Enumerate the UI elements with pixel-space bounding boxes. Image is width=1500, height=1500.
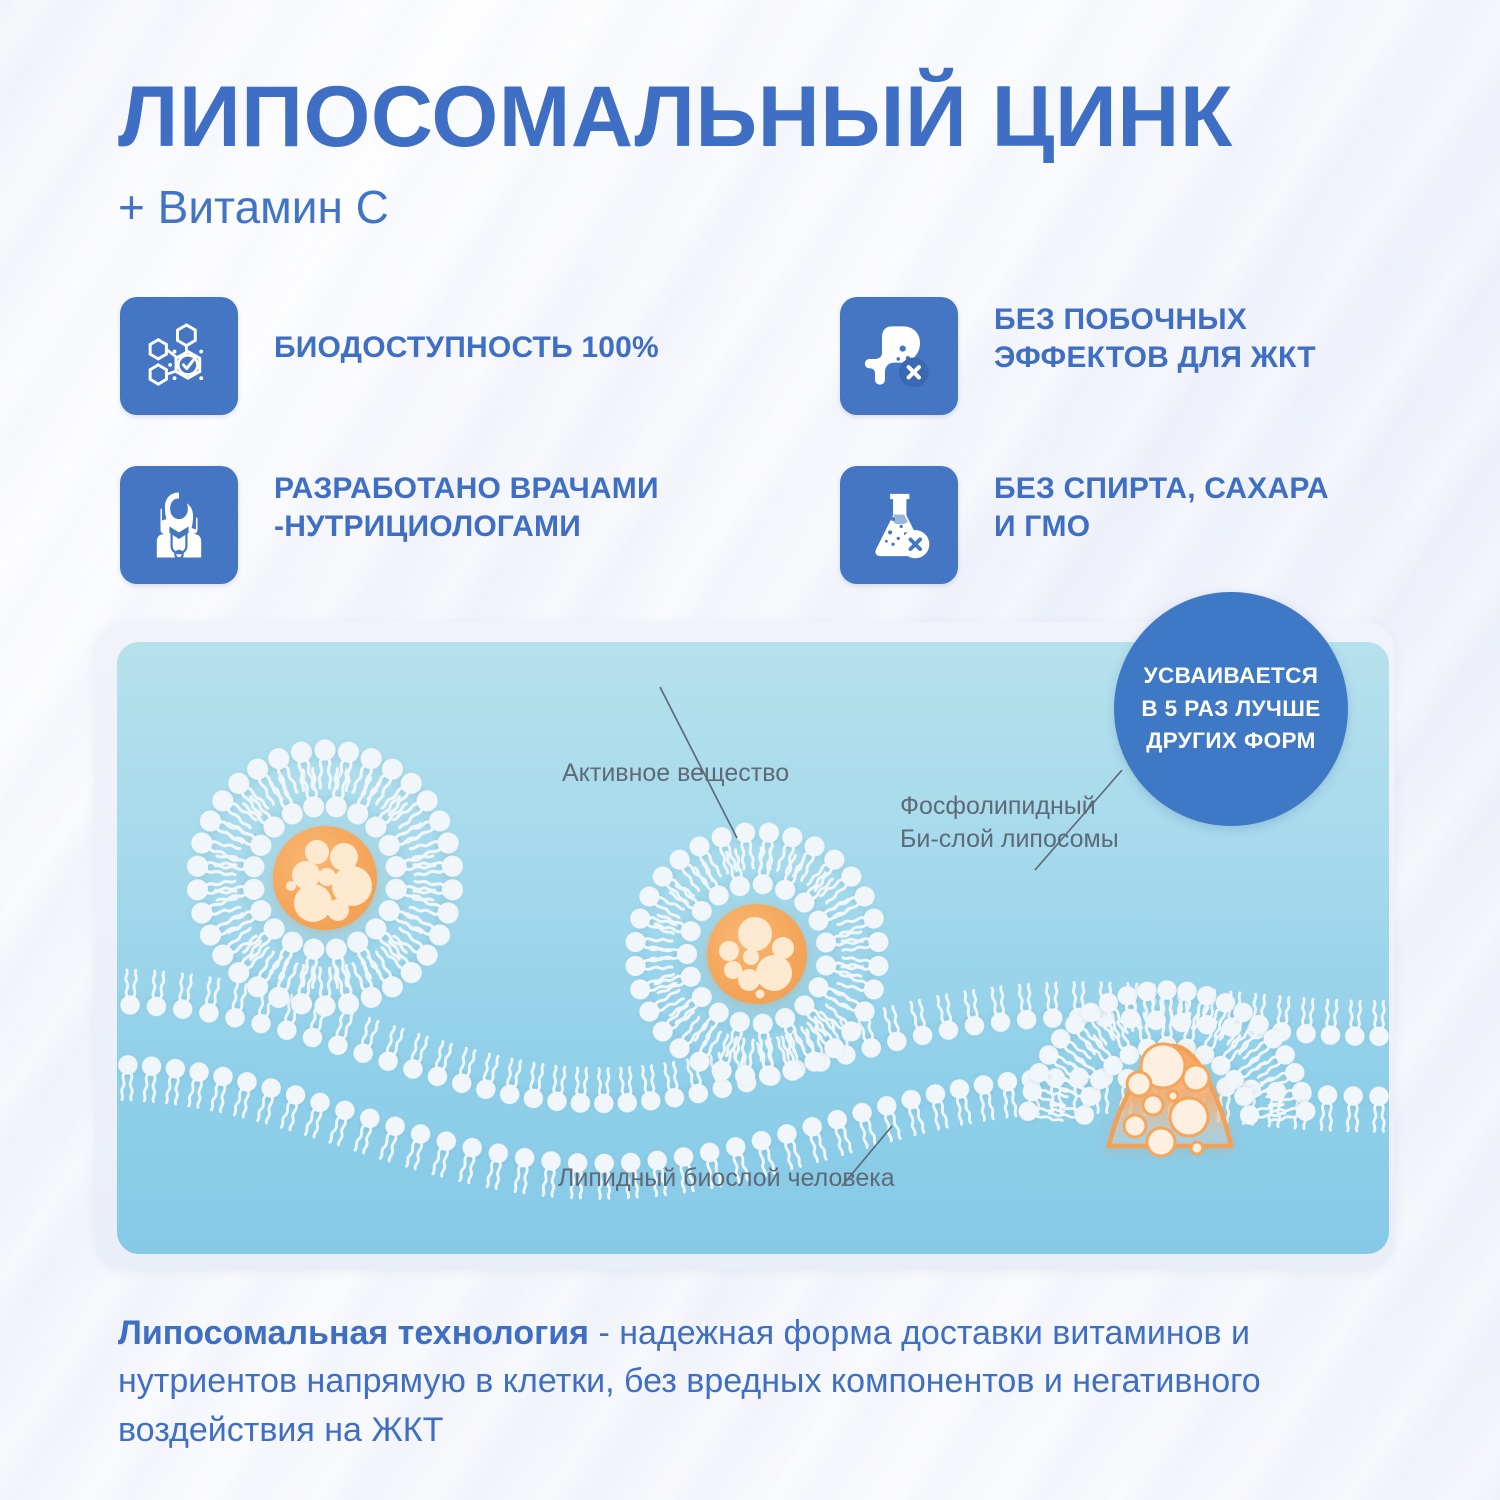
- page-title: ЛИПОСОМАЛЬНЫЙ ЦИНК: [118, 74, 1233, 160]
- flask-no-icon: [862, 488, 936, 562]
- nutritionist-icon: [142, 488, 216, 562]
- feature-label: БЕЗ СПИРТА, САХАРА И ГМО: [994, 466, 1329, 546]
- feature-icon-tile: [120, 466, 238, 584]
- feature-icon-tile: [840, 466, 958, 584]
- footer-description: Липосомальная технология - надежная форм…: [118, 1309, 1408, 1454]
- label-phospholipid-bilayer: Фосфолипидный Би-слой липосомы: [900, 790, 1119, 855]
- liposome-right-fusing: [1017, 980, 1316, 1156]
- absorption-badge-text: УСВАИВАЕТСЯ В 5 РАЗ ЛУЧШЕ ДРУГИХ ФОРМ: [1141, 660, 1320, 758]
- footer-lead: Липосомальная технология: [118, 1314, 589, 1352]
- molecule-check-icon: [142, 319, 216, 393]
- absorption-badge: УСВАИВАЕТСЯ В 5 РАЗ ЛУЧШЕ ДРУГИХ ФОРМ: [1114, 592, 1348, 826]
- infographic-stage: ЛИПОСОМАЛЬНЫЙ ЦИНК + Витамин C: [0, 0, 1500, 1500]
- feature-icon-tile: [120, 297, 238, 415]
- liposome-left: [186, 739, 464, 1016]
- feature-item-developed-by-nutritionists: РАЗРАБОТАНО ВРАЧАМИ -НУТРИЦИОЛОГАМИ: [120, 466, 659, 584]
- feature-label: БЕЗ ПОБОЧНЫХ ЭФФЕКТОВ ДЛЯ ЖКТ: [994, 297, 1316, 377]
- feature-icon-tile: [840, 297, 958, 415]
- feature-item-no-gi-side-effects: БЕЗ ПОБОЧНЫХ ЭФФЕКТОВ ДЛЯ ЖКТ: [840, 297, 1316, 415]
- feature-label: БИОДОСТУПНОСТЬ 100%: [274, 297, 659, 367]
- label-human-lipid-bilayer: Липидный биослой человека: [558, 1162, 895, 1195]
- page-subtitle: + Витамин C: [118, 184, 389, 230]
- feature-item-bioavailability: БИОДОСТУПНОСТЬ 100%: [120, 297, 659, 415]
- label-active-substance: Активное вещество: [562, 757, 789, 790]
- stomach-no-icon: [862, 319, 936, 393]
- feature-label: РАЗРАБОТАНО ВРАЧАМИ -НУТРИЦИОЛОГАМИ: [274, 466, 659, 546]
- feature-item-no-alcohol-sugar-gmo: БЕЗ СПИРТА, САХАРА И ГМО: [840, 466, 1329, 584]
